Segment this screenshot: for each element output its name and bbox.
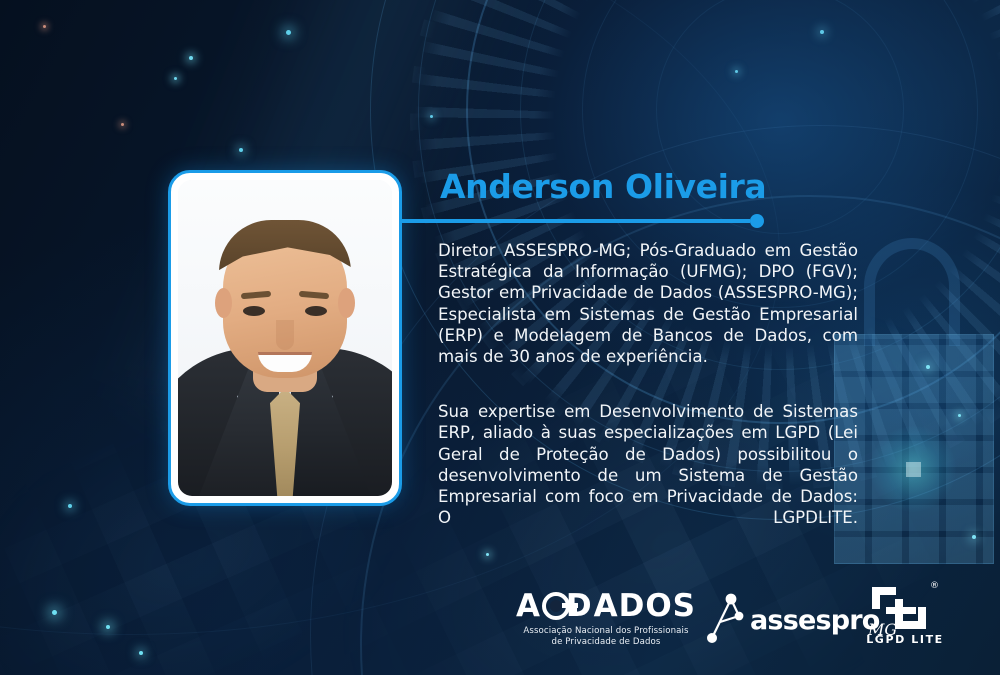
- glow-particle: [958, 414, 961, 417]
- glow-particle: [189, 56, 193, 60]
- glow-particle: [972, 535, 976, 539]
- glow-particle: [239, 148, 243, 152]
- glow-particle: [926, 365, 930, 369]
- assespro-network-icon: [698, 591, 754, 647]
- anpdados-word-part-1: A: [516, 589, 541, 623]
- anpdados-tagline-line-1: Associação Nacional dos Profissionais: [516, 626, 696, 637]
- speaker-photo: [168, 170, 402, 506]
- speaker-profile-slide: Anderson Oliveira Diretor ASSESPRO-MG; P…: [0, 0, 1000, 675]
- speaker-name: Anderson Oliveira: [440, 167, 766, 206]
- assespro-wordmark: assespro: [750, 605, 880, 636]
- logo-strip: A D ADOS Associação Nacional dos Profiss…: [0, 581, 1000, 661]
- anpdados-logo: A D ADOS Associação Nacional dos Profiss…: [516, 589, 696, 648]
- anpdados-wordmark: A D ADOS: [516, 589, 696, 623]
- anpdados-tagline-line-2: de Privacidade de Dados: [516, 637, 696, 648]
- lgpdlite-logo: ® LGPD LITE: [862, 581, 952, 655]
- registered-mark: ®: [930, 581, 939, 591]
- bio-paragraph-1: Diretor ASSESPRO-MG; Pós-Graduado em Ges…: [438, 240, 858, 367]
- glow-particle: [174, 77, 177, 80]
- glow-particle: [735, 70, 738, 73]
- anpdados-word-part-3: ADOS: [594, 589, 696, 623]
- keyhole-icon: [542, 591, 565, 621]
- accent-connector-line: [402, 219, 750, 223]
- accent-connector-dot: [750, 214, 764, 228]
- glow-particle: [486, 553, 489, 556]
- lgpdlite-bracket-icon: [868, 583, 930, 633]
- anpdados-tagline: Associação Nacional dos Profissionais de…: [516, 626, 696, 648]
- glow-particle: [121, 123, 124, 126]
- assespro-logo: assespro MG: [698, 591, 868, 647]
- glow-particle: [286, 30, 291, 35]
- glow-particle: [820, 30, 824, 34]
- speaker-photo-image: [178, 180, 392, 496]
- lgpdlite-wordmark: LGPD LITE: [862, 633, 948, 646]
- glow-particle: [43, 25, 46, 28]
- glow-particle: [430, 115, 433, 118]
- bio-paragraph-2: Sua expertise em Desenvolvimento de Sist…: [438, 401, 858, 549]
- speaker-bio: Diretor ASSESPRO-MG; Pós-Graduado em Ges…: [438, 240, 858, 550]
- glow-particle: [68, 504, 72, 508]
